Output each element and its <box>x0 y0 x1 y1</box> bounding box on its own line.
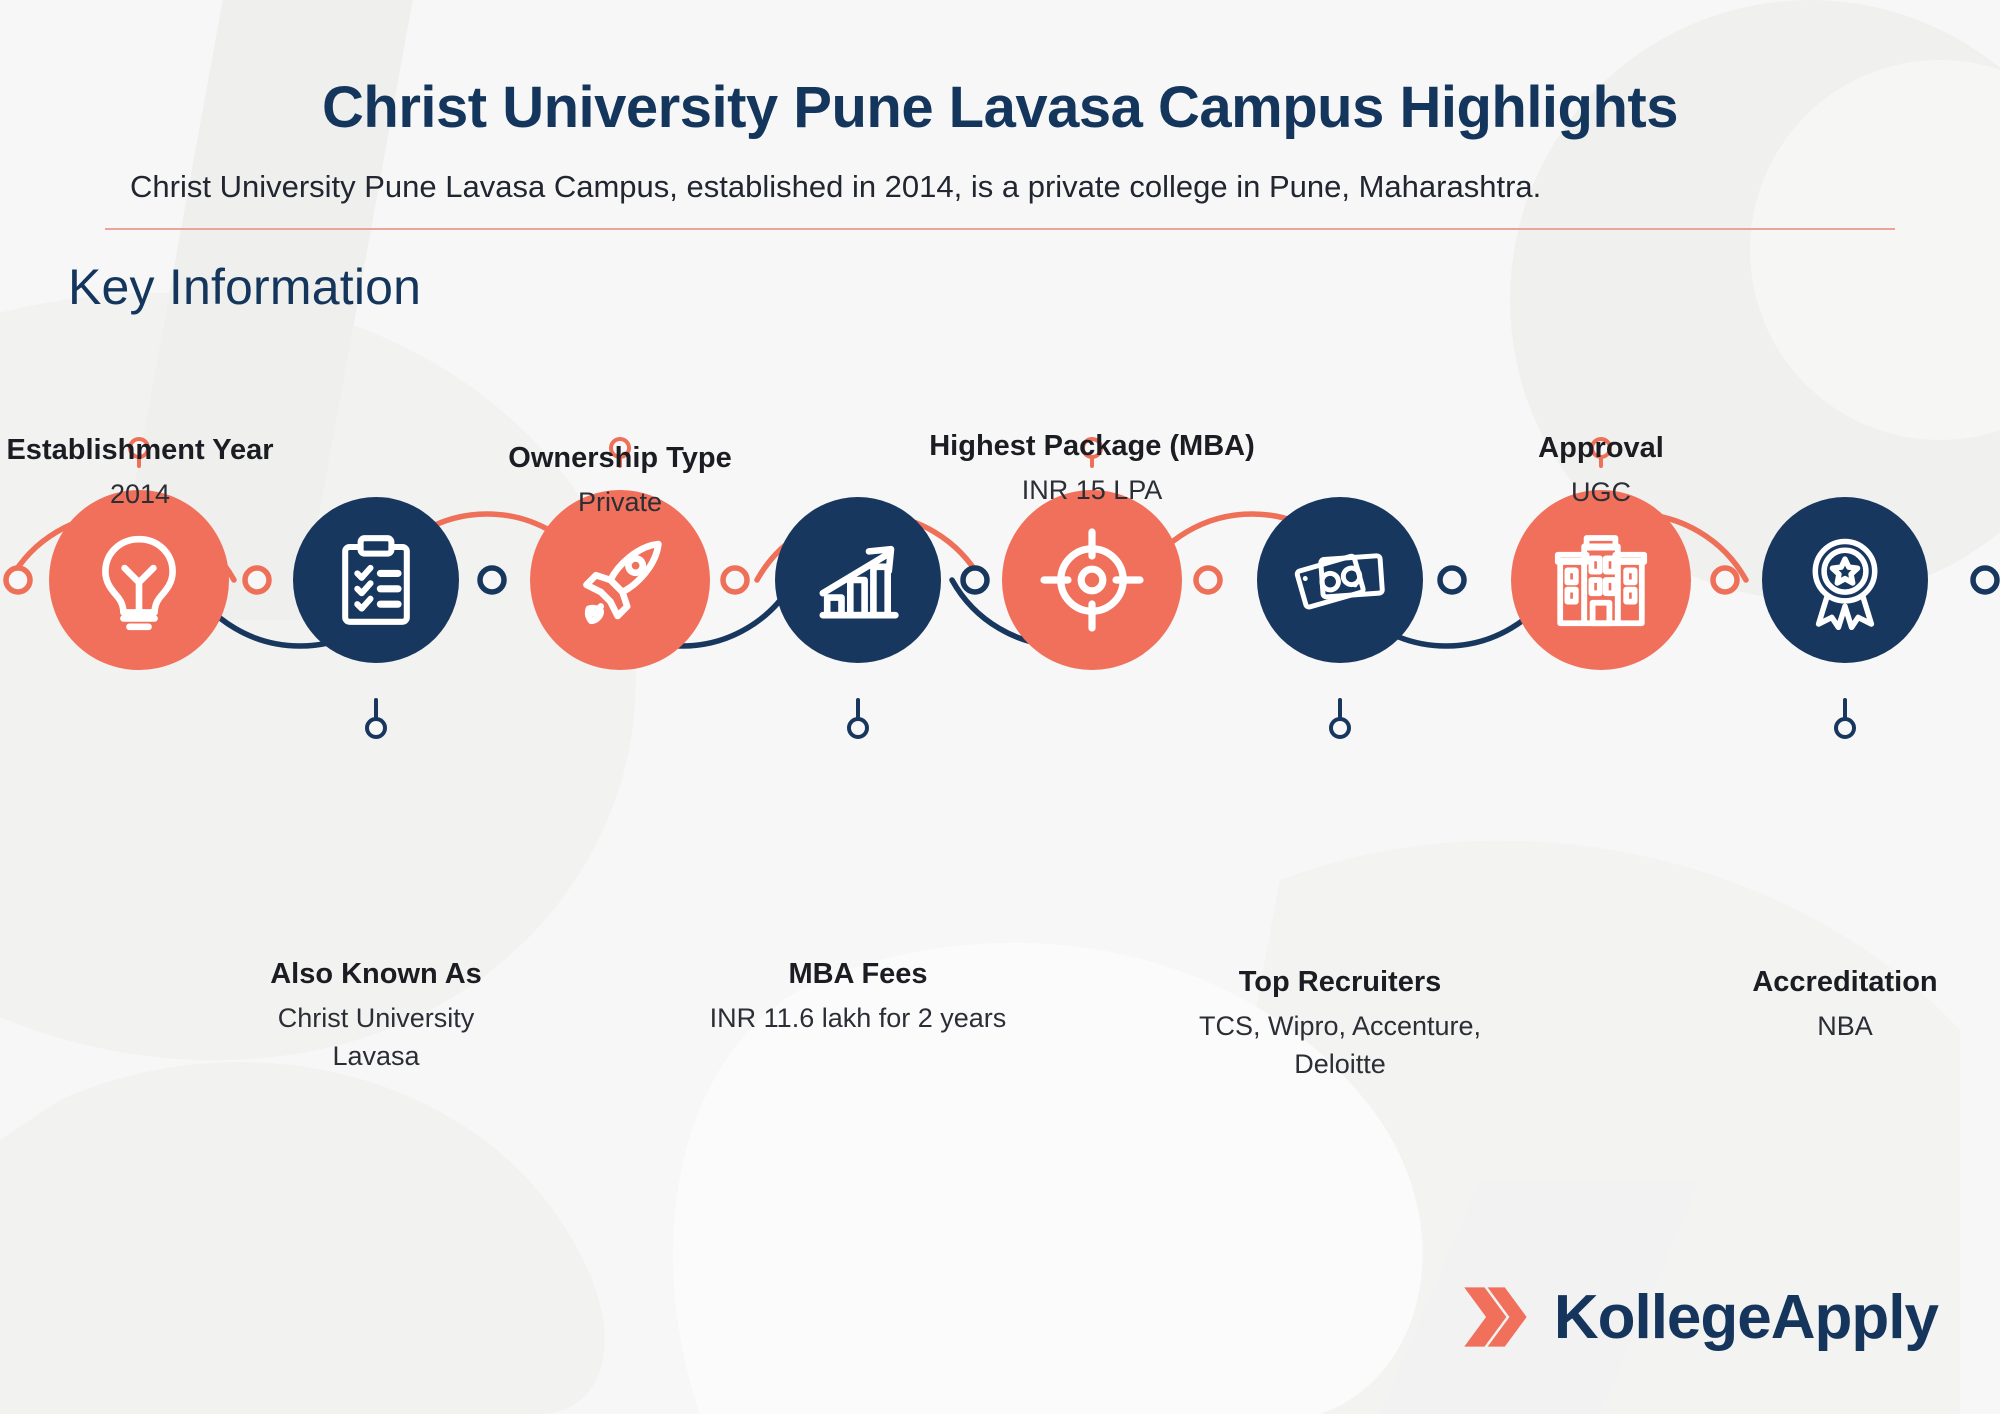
chain-node <box>1440 568 1464 592</box>
stem-tip <box>367 719 385 737</box>
chain-node <box>1973 568 1997 592</box>
chain-node <box>245 568 269 592</box>
stem-tip <box>1592 439 1610 457</box>
section-title: Key Information <box>68 258 2000 316</box>
label-value: Christ University Lavasa <box>251 1000 501 1075</box>
chain-node <box>963 568 987 592</box>
stem-tip <box>1836 719 1854 737</box>
header-divider <box>105 228 1895 230</box>
label-value: TCS, Wipro, Accenture, Deloitte <box>1160 1008 1520 1083</box>
chain-node <box>6 568 30 592</box>
circle-also-known-as[interactable] <box>293 497 459 663</box>
timeline-chain <box>0 430 2000 990</box>
label-value: INR 11.6 lakh for 2 years <box>638 1000 1078 1037</box>
circle-highest-package[interactable] <box>1002 490 1182 670</box>
chain-node <box>723 568 747 592</box>
label-value: NBA <box>1645 1008 2000 1045</box>
stem-tip <box>849 719 867 737</box>
double-chevron-icon <box>1458 1278 1536 1356</box>
kollegeapply-logo[interactable]: KollegeApply <box>1458 1278 1938 1356</box>
circle-ownership-type[interactable] <box>530 490 710 670</box>
stem-tip <box>1331 719 1349 737</box>
chain-node <box>480 568 504 592</box>
stem-tip <box>130 439 148 457</box>
stem-tip <box>1083 439 1101 457</box>
page-subtitle: Christ University Pune Lavasa Campus, es… <box>110 165 1890 210</box>
page-title: Christ University Pune Lavasa Campus Hig… <box>0 0 2000 139</box>
header: Christ University Pune Lavasa Campus Hig… <box>0 0 2000 316</box>
stem-tip <box>611 439 629 457</box>
logo-text: KollegeApply <box>1554 1282 1938 1353</box>
chain-node <box>1713 568 1737 592</box>
chain-node <box>1196 568 1220 592</box>
